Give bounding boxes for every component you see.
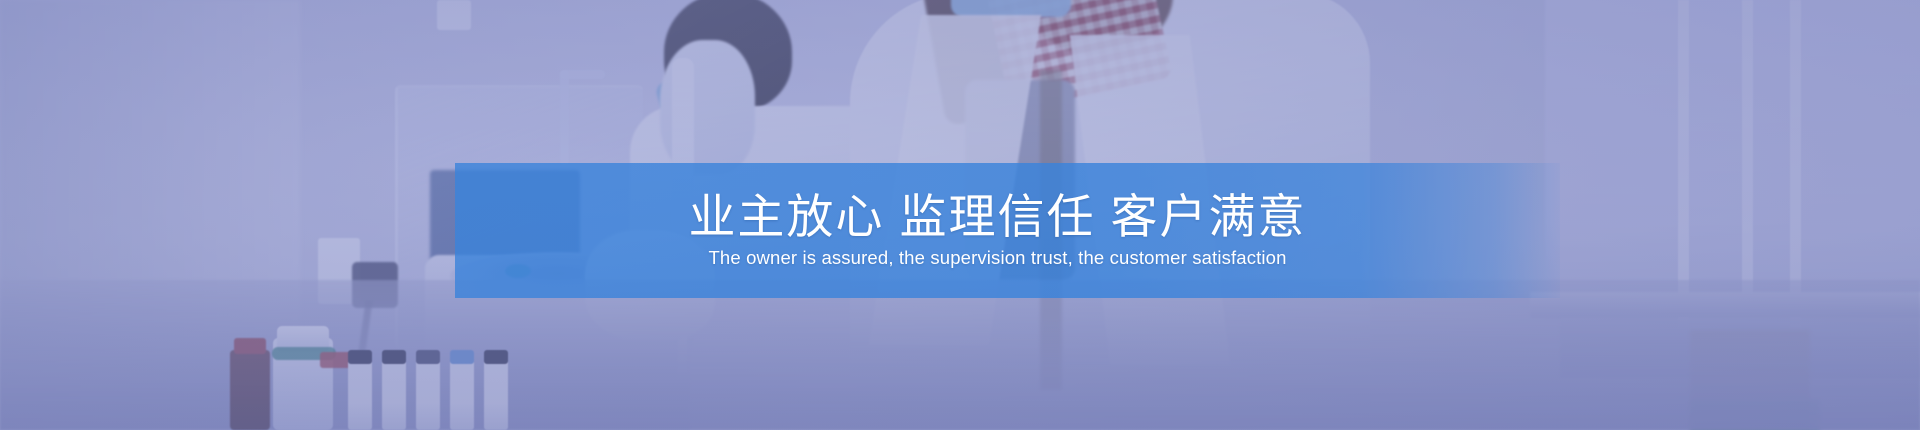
hero-banner: 业主放心 监理信任 客户满意 The owner is assured, the… xyxy=(0,0,1920,430)
caption-band: 业主放心 监理信任 客户满意 The owner is assured, the… xyxy=(455,163,1560,298)
caption-band-content: 业主放心 监理信任 客户满意 The owner is assured, the… xyxy=(455,163,1560,298)
banner-headline: 业主放心 监理信任 客户满意 xyxy=(688,192,1306,242)
banner-subheadline: The owner is assured, the supervision tr… xyxy=(708,247,1286,269)
